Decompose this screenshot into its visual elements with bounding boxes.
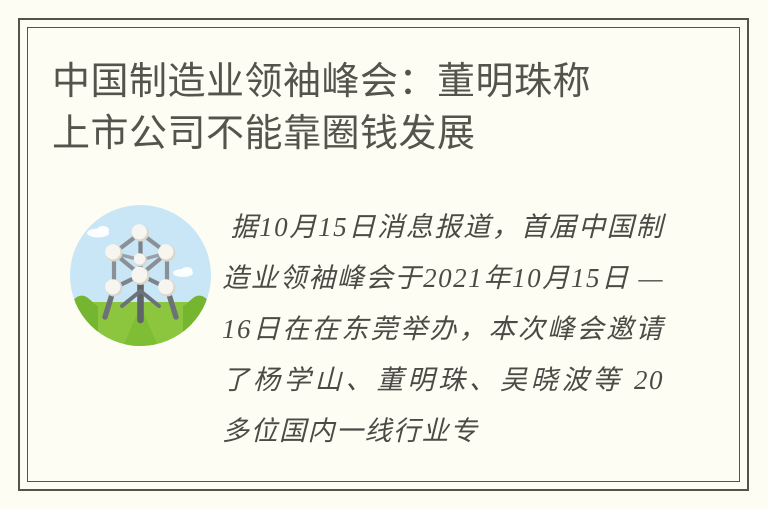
article-headline: 中国制造业领袖峰会：董明珠称 上市公司不能靠圈钱发展 xyxy=(52,56,692,160)
article-body-area: 据10月15日消息报道，首届中国制造业领袖峰会于2021年10月15日 —16日… xyxy=(52,200,712,460)
article-card-page: 中国制造业领袖峰会：董明珠称 上市公司不能靠圈钱发展 xyxy=(0,0,768,510)
article-body-text: 据10月15日消息报道，首届中国制造业领袖峰会于2021年10月15日 —16日… xyxy=(222,202,664,457)
atomium-monument-illustration xyxy=(70,205,211,346)
